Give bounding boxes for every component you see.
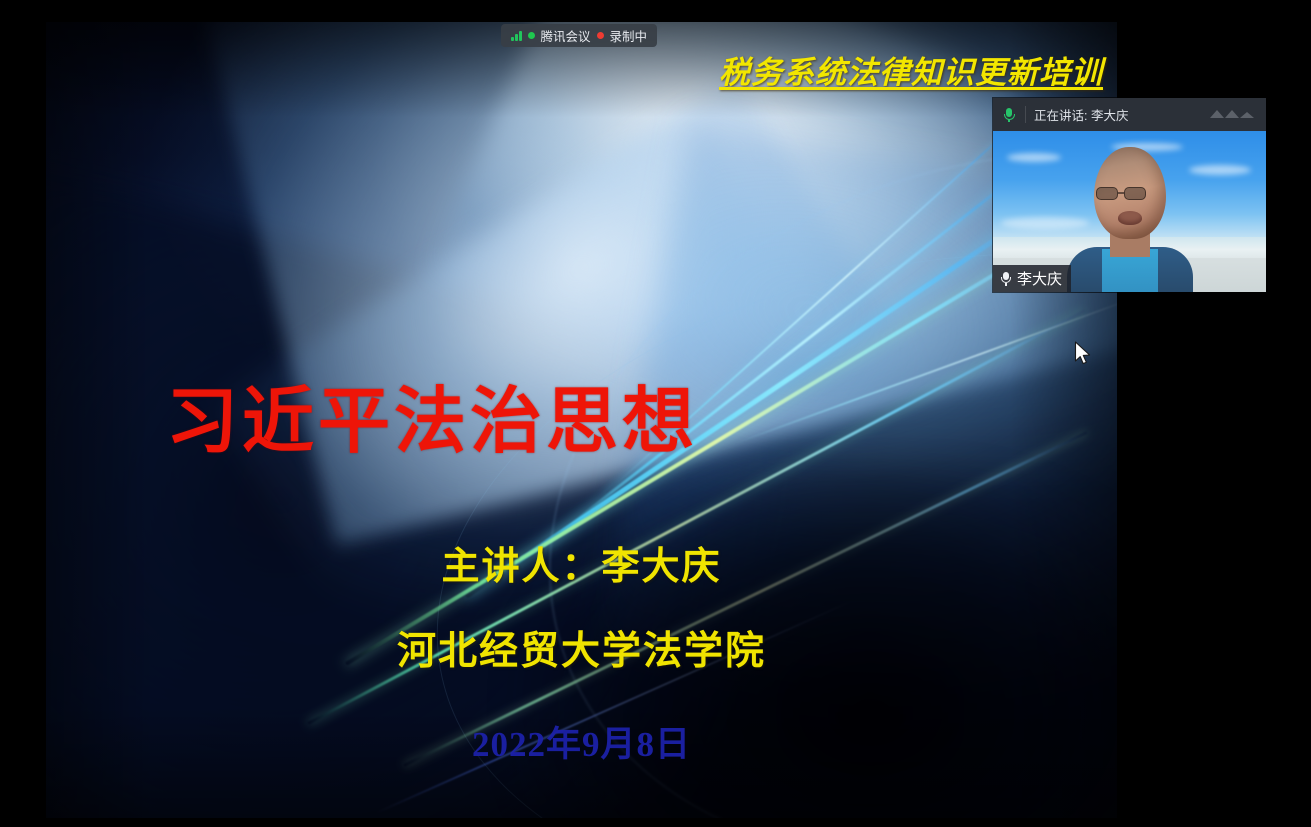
recording-label: 录制中 xyxy=(610,26,648,45)
participant-nametag: 李大庆 xyxy=(993,265,1071,292)
slide-presenter-line: 主讲人：李大庆 xyxy=(46,535,1117,590)
slide-main-title: 习近平法治思想 xyxy=(166,362,698,467)
shared-slide: 税务系统法律知识更新培训 习近平法治思想 主讲人：李大庆 河北经贸大学法学院 2… xyxy=(46,22,1117,818)
cloud-shape xyxy=(1189,165,1251,175)
video-feed[interactable]: 李大庆 xyxy=(993,131,1266,292)
video-panel-header: 正在讲话: 李大庆 xyxy=(993,98,1266,131)
red-dot-icon xyxy=(597,32,604,39)
signal-bars-icon xyxy=(511,31,522,41)
cloud-shape xyxy=(1007,153,1061,162)
speaker-avatar-video xyxy=(1064,147,1196,292)
header-divider xyxy=(1025,106,1026,123)
speaker-video-panel[interactable]: 正在讲话: 李大庆 xyxy=(993,98,1266,292)
green-dot-icon xyxy=(528,32,535,39)
app-name-label: 腾讯会议 xyxy=(541,26,591,45)
microphone-icon xyxy=(1001,107,1017,123)
slide-banner-title: 税务系统法律知识更新培训 xyxy=(719,47,1103,92)
slide-organization-line: 河北经贸大学法学院 xyxy=(46,620,1117,676)
chevrons-icon[interactable] xyxy=(1206,104,1258,124)
meeting-screen: 税务系统法律知识更新培训 习近平法治思想 主讲人：李大庆 河北经贸大学法学院 2… xyxy=(0,0,1311,827)
microphone-icon xyxy=(999,271,1012,286)
participant-name-label: 李大庆 xyxy=(1017,268,1062,289)
speaking-now-label: 正在讲话: 李大庆 xyxy=(1034,105,1128,124)
slide-date-line: 2022年9月8日 xyxy=(46,716,1117,767)
recording-status-badge[interactable]: 腾讯会议 录制中 xyxy=(501,24,657,47)
